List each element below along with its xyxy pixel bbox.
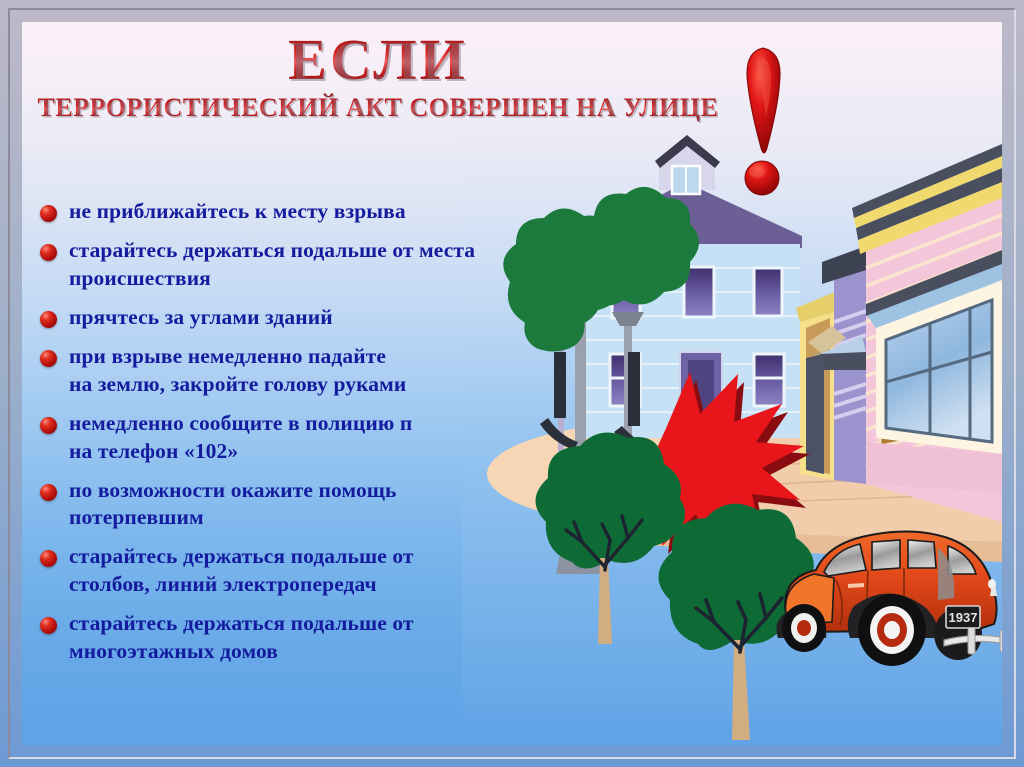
bullet-sphere-icon bbox=[40, 484, 57, 501]
car-plate-number: 1937 bbox=[949, 610, 978, 625]
instruction-list: не приближайтесь к месту взрыва старайте… bbox=[40, 198, 560, 677]
list-item-line: потерпевшим bbox=[69, 504, 397, 532]
list-item: немедленно сообщите в полицию п на телеф… bbox=[40, 410, 560, 466]
list-item-line: немедленно сообщите в полицию п bbox=[69, 410, 412, 438]
list-item: прячтесь за углами зданий bbox=[40, 304, 560, 332]
bullet-sphere-icon bbox=[40, 205, 57, 222]
list-item-line: старайтесь держаться подальше от bbox=[69, 610, 414, 638]
car-license-plate: 1937 bbox=[946, 606, 980, 628]
list-item-line: столбов, линий электропередач bbox=[69, 571, 414, 599]
list-item-line: на телефон «102» bbox=[69, 438, 412, 466]
list-item: при взрыве немедленно падайте на землю, … bbox=[40, 343, 560, 399]
bullet-sphere-icon bbox=[40, 350, 57, 367]
list-item: по возможности окажите помощь потерпевши… bbox=[40, 477, 560, 533]
bullet-sphere-icon bbox=[40, 550, 57, 567]
list-item-line: старайтесь держаться подальше от bbox=[69, 543, 414, 571]
list-item-line: по возможности окажите помощь bbox=[69, 477, 397, 505]
list-item-text: при взрыве немедленно падайте на землю, … bbox=[69, 343, 406, 399]
exclamation-mark-icon bbox=[732, 42, 794, 202]
poster-title: ЕСЛИ ТЕРРОРИСТИЧЕСКИЙ АКТ СОВЕРШЕН НА УЛ… bbox=[22, 30, 734, 123]
title-line-2: ТЕРРОРИСТИЧЕСКИЙ АКТ СОВЕРШЕН НА УЛИЦЕ bbox=[22, 93, 734, 123]
list-item-line: старайтесь держаться подальше от места bbox=[69, 237, 475, 265]
list-item-text: не приближайтесь к месту взрыва bbox=[69, 198, 406, 226]
list-item: старайтесь держаться подальше от многоэт… bbox=[40, 610, 560, 666]
list-item-line: многоэтажных домов bbox=[69, 638, 414, 666]
list-item: старайтесь держаться подальше от столбов… bbox=[40, 543, 560, 599]
list-item-line: происшествия bbox=[69, 265, 475, 293]
list-item-line: прячтесь за углами зданий bbox=[69, 304, 333, 332]
list-item-text: старайтесь держаться подальше от многоэт… bbox=[69, 610, 414, 666]
list-item-text: старайтесь держаться подальше от места п… bbox=[69, 237, 475, 293]
bullet-sphere-icon bbox=[40, 417, 57, 434]
list-item-text: по возможности окажите помощь потерпевши… bbox=[69, 477, 397, 533]
bullet-sphere-icon bbox=[40, 311, 57, 328]
title-line-1: ЕСЛИ bbox=[22, 30, 734, 91]
list-item-text: прячтесь за углами зданий bbox=[69, 304, 333, 332]
list-item-line: при взрыве немедленно падайте bbox=[69, 343, 406, 371]
list-item-text: немедленно сообщите в полицию п на телеф… bbox=[69, 410, 412, 466]
list-item: не приближайтесь к месту взрыва bbox=[40, 198, 560, 226]
bullet-sphere-icon bbox=[40, 244, 57, 261]
list-item: старайтесь держаться подальше от места п… bbox=[40, 237, 560, 293]
list-item-text: старайтесь держаться подальше от столбов… bbox=[69, 543, 414, 599]
poster-canvas: 1937 ЕСЛИ ТЕРРОРИСТИЧЕСКИЙ АКТ СОВЕРШЕН … bbox=[22, 22, 1002, 745]
list-item-line: не приближайтесь к месту взрыва bbox=[69, 198, 406, 226]
bullet-sphere-icon bbox=[40, 617, 57, 634]
safety-poster: 1937 ЕСЛИ ТЕРРОРИСТИЧЕСКИЙ АКТ СОВЕРШЕН … bbox=[0, 0, 1024, 767]
list-item-line: на землю, закройте голову руками bbox=[69, 371, 406, 399]
